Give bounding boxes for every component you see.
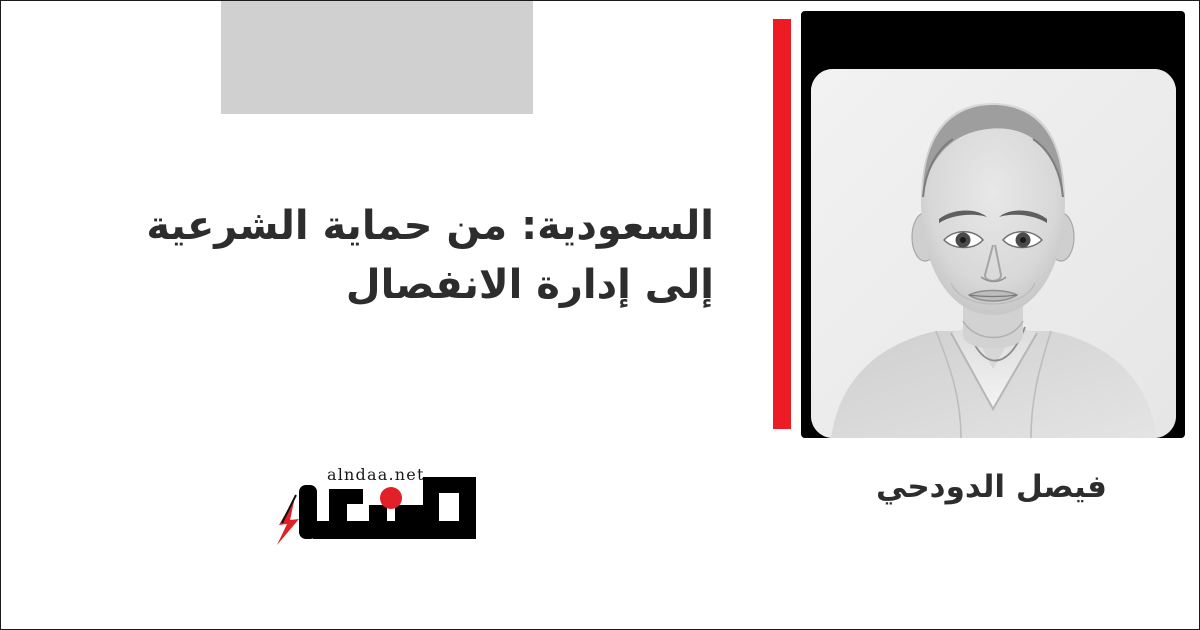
accent-red-bar xyxy=(773,19,791,429)
author-portrait xyxy=(811,69,1176,438)
lightning-bolt-icon xyxy=(277,495,299,545)
author-name: فيصل الدودحي xyxy=(687,469,1107,506)
page-title: السعودية: من حماية الشرعية إلى إدارة الا… xyxy=(94,197,714,315)
logo-red-dot xyxy=(380,487,402,509)
gray-placeholder-block xyxy=(221,1,533,114)
logo-url-text: alndaa.net xyxy=(327,465,425,484)
site-logo[interactable]: alndaa.net xyxy=(273,461,493,561)
article-share-card: السعودية: من حماية الشرعية إلى إدارة الا… xyxy=(0,0,1200,630)
